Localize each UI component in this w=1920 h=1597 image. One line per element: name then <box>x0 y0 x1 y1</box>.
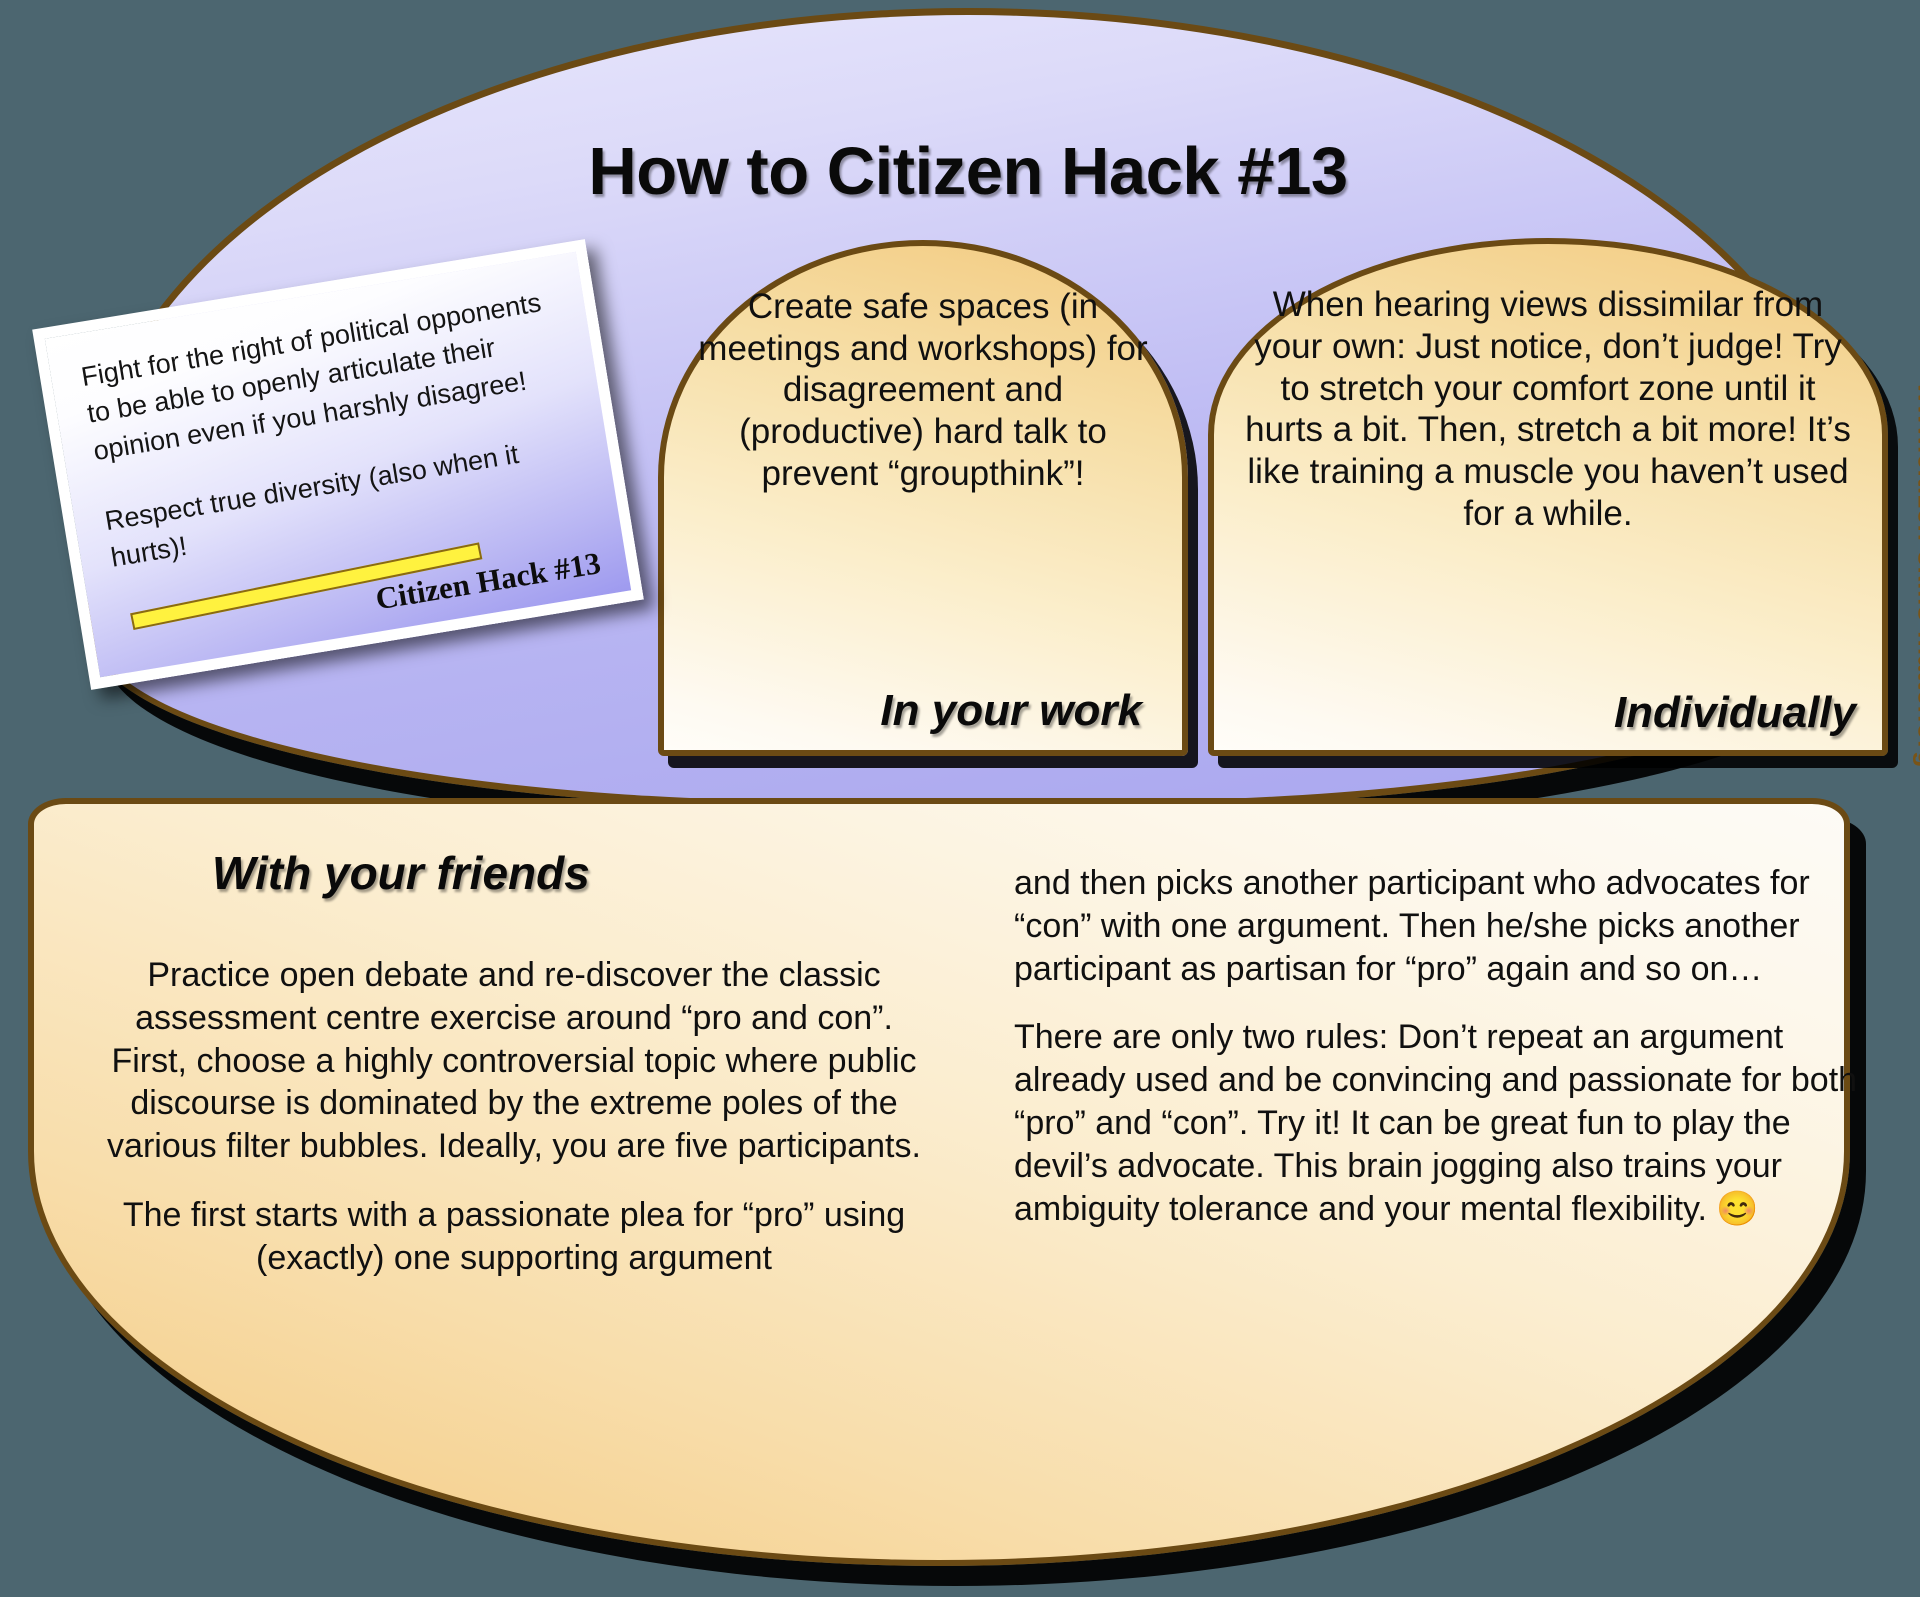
bubble-individually: When hearing views dissimilar from your … <box>1208 238 1888 756</box>
bubble-in-your-work: Create safe spaces (in meetings and work… <box>658 240 1188 756</box>
infographic-canvas: How to Citizen Hack #13 Create safe spac… <box>0 0 1920 1597</box>
bottom-right-paragraph-2: There are only two rules: Don’t repeat a… <box>1014 1016 1864 1230</box>
website-url[interactable]: www.citizen-skills-matter.org <box>1912 382 1920 768</box>
bottom-left-paragraph-1: Practice open debate and re-discover the… <box>94 954 934 1168</box>
bottom-bubble-with-your-friends: With your friends Practice open debate a… <box>28 798 1850 1566</box>
bottom-left-paragraph-2: The first starts with a passionate plea … <box>94 1194 934 1280</box>
bubble-in-your-work-label: In your work <box>880 686 1142 736</box>
bottom-right-column: and then picks another participant who a… <box>1014 862 1864 1231</box>
page-title: How to Citizen Hack #13 <box>95 133 1841 210</box>
bubble-in-your-work-text: Create safe spaces (in meetings and work… <box>690 286 1156 494</box>
bottom-left-column: Practice open debate and re-discover the… <box>94 954 934 1280</box>
with-your-friends-label: With your friends <box>212 846 590 900</box>
bottom-right-paragraph-1: and then picks another participant who a… <box>1014 862 1864 990</box>
bubble-individually-label: Individually <box>1614 688 1856 738</box>
bubble-individually-text: When hearing views dissimilar from your … <box>1240 284 1856 535</box>
